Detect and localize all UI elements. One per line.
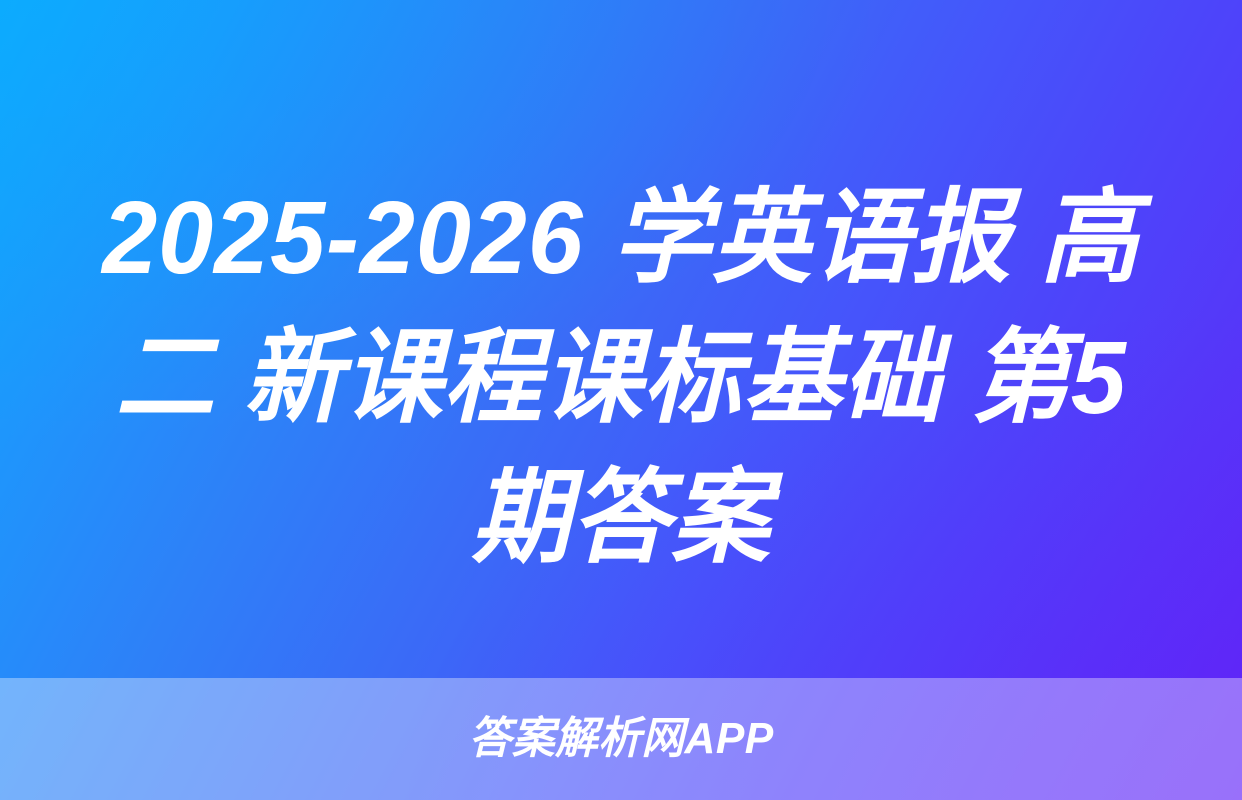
- poster-title-line-3: 期答案: [79, 448, 1164, 588]
- poster-title-block: 2025-2026 学英语报 高 二 新课程课标基础 第5 期答案: [0, 168, 1242, 588]
- footer-brand-bar: 答案解析网APP: [0, 678, 1242, 800]
- poster-title-line-2: 二 新课程课标基础 第5: [79, 308, 1164, 448]
- poster-title-line-1: 2025-2026 学英语报 高: [79, 168, 1164, 308]
- answer-poster-card: 2025-2026 学英语报 高 二 新课程课标基础 第5 期答案 答案解析网A…: [0, 0, 1242, 800]
- footer-brand-label: 答案解析网APP: [468, 717, 773, 761]
